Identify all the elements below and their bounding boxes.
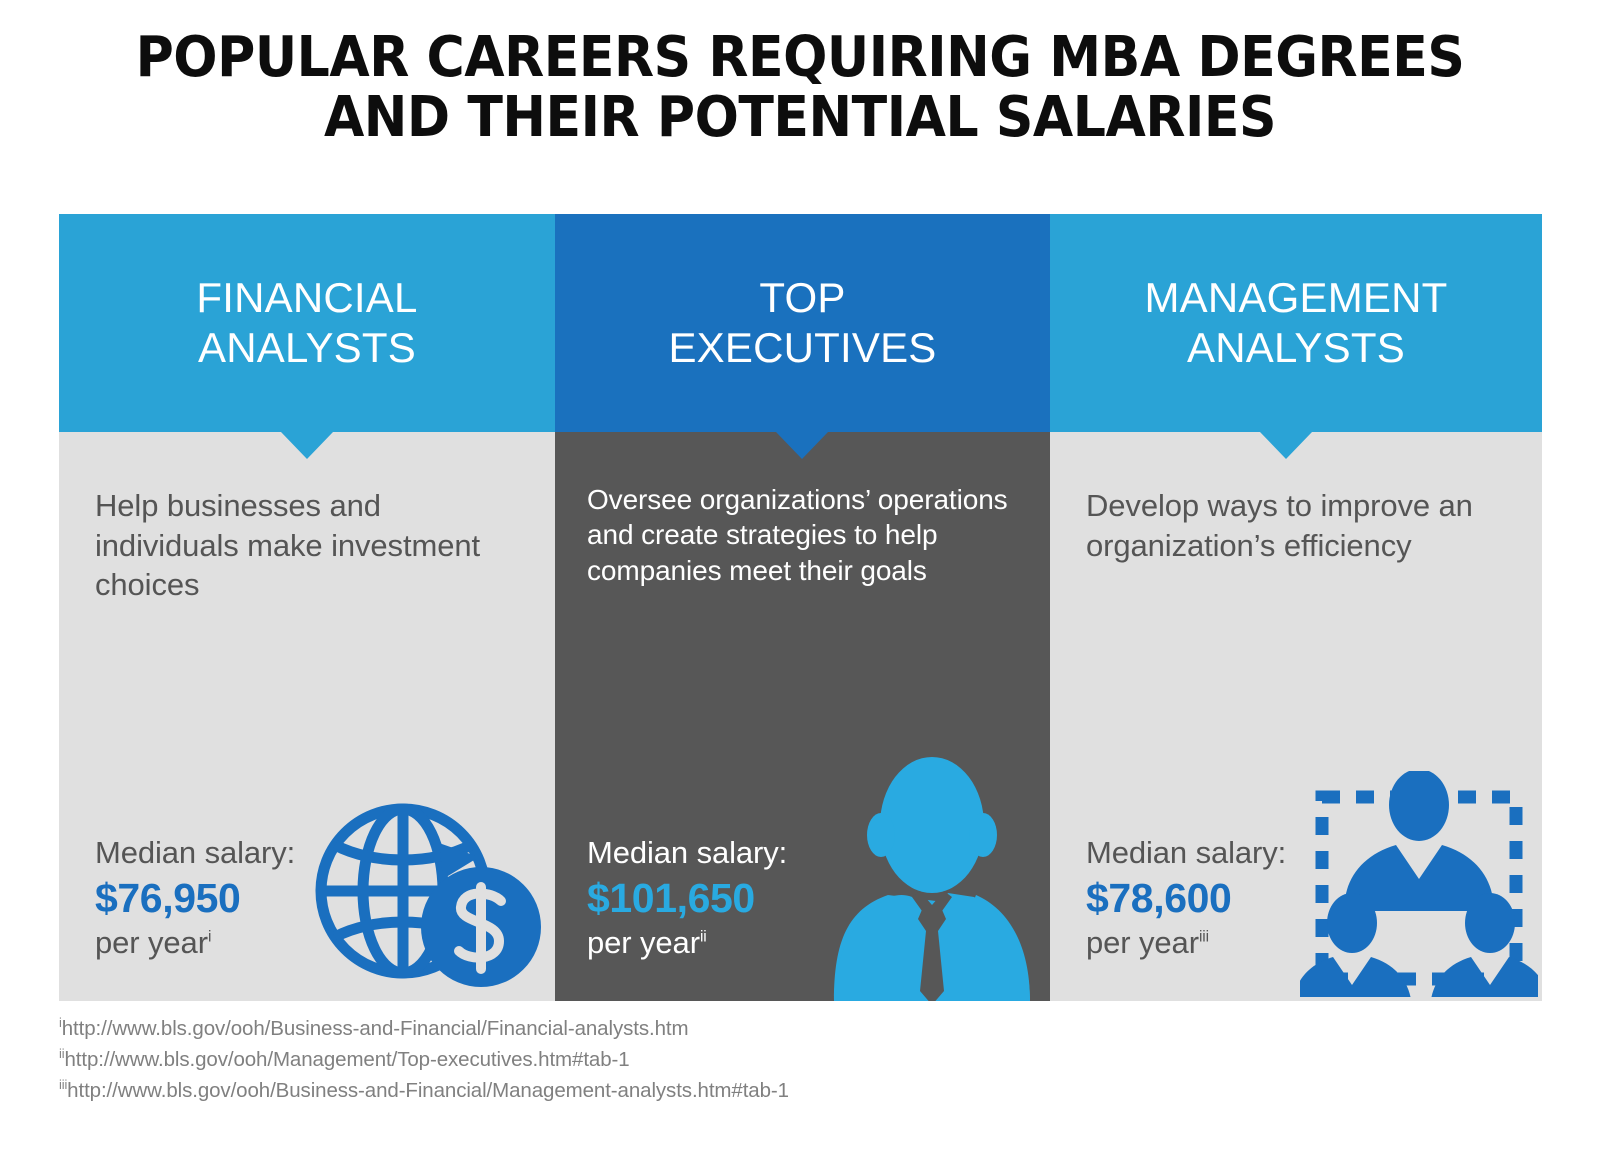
column-body-financial-analysts: Help businesses and individuals make inv… [59,432,555,1001]
footnote-item: iihttp://www.bls.gov/ooh/Management/Top-… [59,1044,1159,1075]
column-description: Help businesses and individuals make inv… [95,486,529,605]
per-year-label: per yeariii [1086,924,1286,961]
column-heading-text: MANAGEMENT ANALYSTS [1126,273,1465,372]
column-description: Oversee organizations’ operations and cr… [587,482,1030,588]
column-body-top-executives: Oversee organizations’ operations and cr… [555,432,1050,1001]
per-year-text: per year [587,925,700,960]
column-header-management-analysts: MANAGEMENT ANALYSTS [1050,214,1542,432]
header-notch-triangle [1260,432,1312,459]
per-year-label: per yearii [587,924,787,961]
median-salary-amount: $101,650 [587,874,787,922]
column-heading-line-1: TOP [759,274,845,321]
column-heading-line-2: ANALYSTS [1187,324,1405,371]
footnote-url[interactable]: http://www.bls.gov/ooh/Management/Top-ex… [64,1048,629,1071]
header-notch-triangle [776,432,828,459]
column-heading-line-1: FINANCIAL [196,274,417,321]
median-salary-label: Median salary: [1086,834,1286,873]
column-description: Develop ways to improve an organization’… [1086,486,1516,565]
footnote-marker: i [208,928,211,945]
infographic-page: POPULAR CAREERS REQUIRING MBA DEGREES AN… [0,0,1600,1151]
column-heading-line-1: MANAGEMENT [1144,274,1447,321]
career-column-management-analysts: MANAGEMENT ANALYSTS Develop ways to impr… [1050,214,1542,1001]
footnote-item: iiihttp://www.bls.gov/ooh/Business-and-F… [59,1075,1159,1106]
page-title: POPULAR CAREERS REQUIRING MBA DEGREES AN… [56,28,1544,149]
page-title-line-1: POPULAR CAREERS REQUIRING MBA DEGREES [56,28,1544,88]
career-column-top-executives: TOP EXECUTIVES Oversee organizations’ op… [555,214,1050,1001]
footnotes-list: ihttp://www.bls.gov/ooh/Business-and-Fin… [59,1013,1159,1106]
median-salary-label: Median salary: [587,834,787,873]
footnote-marker: ii [700,928,707,945]
column-heading-text: TOP EXECUTIVES [650,273,954,372]
column-heading-line-2: EXECUTIVES [668,324,936,371]
footnote-url[interactable]: http://www.bls.gov/ooh/Business-and-Fina… [62,1017,689,1040]
per-year-text: per year [1086,925,1199,960]
median-salary-label: Median salary: [95,834,295,873]
column-body-management-analysts: Develop ways to improve an organization’… [1050,432,1542,1001]
team-network-icon [1300,771,1538,997]
salary-block-financial-analysts: Median salary: $76,950 per yeari [95,834,295,961]
column-header-financial-analysts: FINANCIAL ANALYSTS [59,214,555,432]
career-column-financial-analysts: FINANCIAL ANALYSTS Help businesses and i… [59,214,555,1001]
salary-block-management-analysts: Median salary: $78,600 per yeariii [1086,834,1286,961]
footnote-url[interactable]: http://www.bls.gov/ooh/Business-and-Fina… [67,1079,789,1102]
column-heading-line-2: ANALYSTS [198,324,416,371]
header-notch-triangle [281,432,333,459]
footnote-item: ihttp://www.bls.gov/ooh/Business-and-Fin… [59,1013,1159,1044]
median-salary-amount: $78,600 [1086,874,1286,922]
footnote-marker: iii [59,1077,67,1092]
globe-dollar-icon [313,787,545,995]
per-year-text: per year [95,925,208,960]
column-header-top-executives: TOP EXECUTIVES [555,214,1050,432]
median-salary-amount: $76,950 [95,874,295,922]
businessman-icon [828,753,1036,1001]
careers-card: FINANCIAL ANALYSTS Help businesses and i… [59,214,1542,1001]
salary-block-top-executives: Median salary: $101,650 per yearii [587,834,787,961]
page-title-line-2: AND THEIR POTENTIAL SALARIES [56,88,1544,148]
per-year-label: per yeari [95,924,295,961]
column-heading-text: FINANCIAL ANALYSTS [178,273,435,372]
footnote-marker: iii [1199,928,1209,945]
